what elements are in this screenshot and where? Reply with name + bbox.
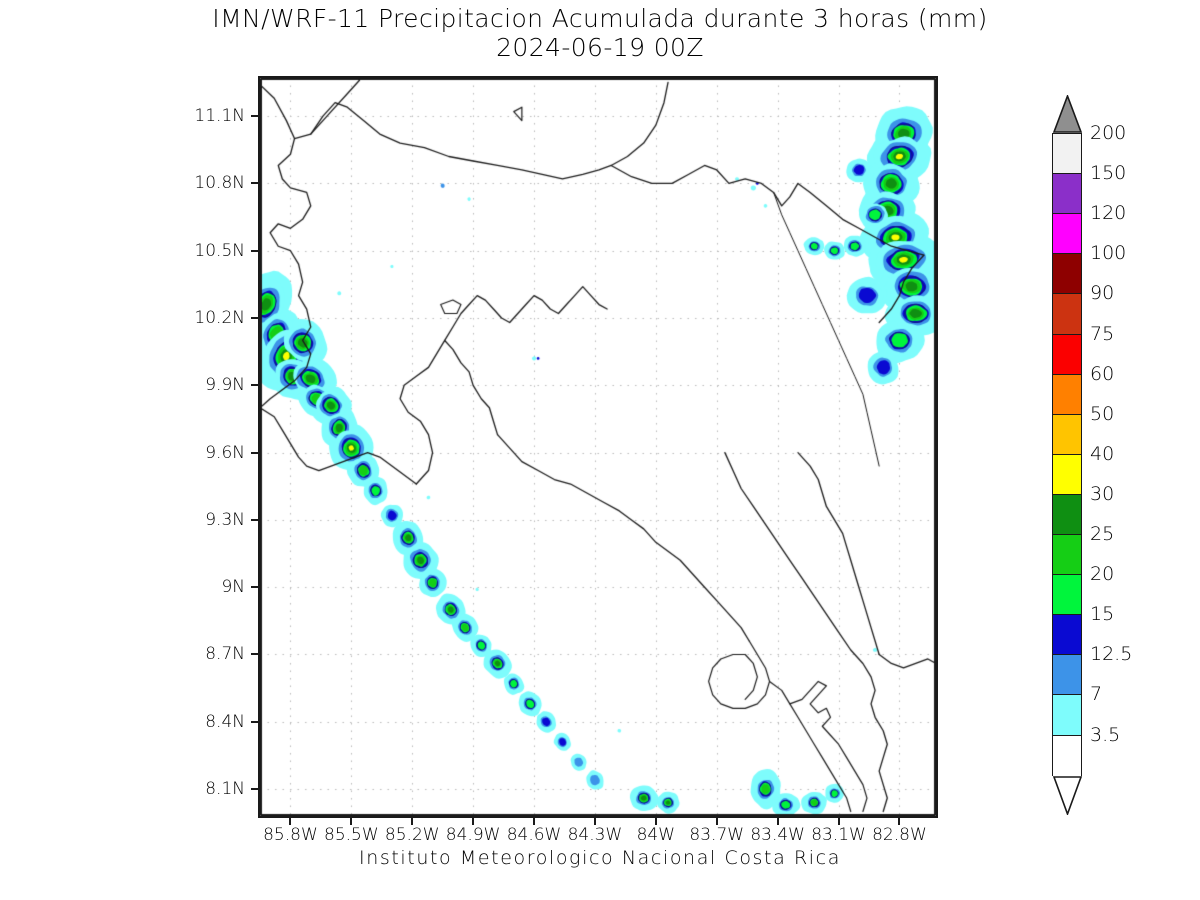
y-axis-tick-mark xyxy=(251,653,259,655)
y-axis-tick-mark xyxy=(251,452,259,454)
y-axis-tick-mark xyxy=(251,721,259,723)
x-axis-tick-mark xyxy=(838,817,840,825)
y-axis-tick-label: 10.8N xyxy=(150,173,245,193)
colorbar: 20015012010090756050403025201512.573.5 xyxy=(1052,95,1084,807)
colorbar-swatch xyxy=(1052,494,1082,536)
colorbar-swatch xyxy=(1052,293,1082,335)
y-axis-tick-label: 8.1N xyxy=(150,779,245,799)
colorbar-swatch xyxy=(1052,374,1082,416)
y-axis-tick-mark xyxy=(251,384,259,386)
page-title: IMN/WRF-11 Precipitacion Acumulada duran… xyxy=(0,4,1200,33)
colorbar-tick-label: 15 xyxy=(1090,605,1114,624)
colorbar-swatch xyxy=(1052,133,1082,175)
y-axis-tick-label: 9.3N xyxy=(150,510,245,530)
y-axis-tick-label: 9N xyxy=(150,577,245,597)
y-axis-tick-label: 9.9N xyxy=(150,375,245,395)
colorbar-swatch xyxy=(1052,253,1082,295)
y-axis-tick-label: 8.4N xyxy=(150,712,245,732)
y-axis-tick-mark xyxy=(251,182,259,184)
footer-attribution: Instituto Meteorologico Nacional Costa R… xyxy=(0,847,1200,869)
colorbar-tick-label: 75 xyxy=(1090,325,1114,344)
precipitation-map-canvas xyxy=(260,78,936,816)
map-plot-area xyxy=(258,76,938,818)
colorbar-swatch xyxy=(1052,213,1082,255)
colorbar-swatch xyxy=(1052,614,1082,656)
colorbar-top-arrow-icon xyxy=(1052,95,1084,133)
x-axis-tick-mark xyxy=(716,817,718,825)
colorbar-tick-label: 90 xyxy=(1090,284,1114,303)
x-axis-tick-mark xyxy=(289,817,291,825)
colorbar-swatch xyxy=(1052,735,1082,777)
chart-title-block: IMN/WRF-11 Precipitacion Acumulada duran… xyxy=(0,4,1200,62)
colorbar-tick-label: 200 xyxy=(1090,124,1126,143)
x-axis-tick-mark xyxy=(472,817,474,825)
y-axis-tick-mark xyxy=(251,250,259,252)
colorbar-swatch xyxy=(1052,414,1082,456)
y-axis-tick-label: 11.1N xyxy=(150,106,245,126)
colorbar-swatch xyxy=(1052,694,1082,736)
colorbar-bottom-arrow-icon xyxy=(1052,775,1084,815)
x-axis-tick-mark xyxy=(350,817,352,825)
colorbar-tick-label: 3.5 xyxy=(1090,726,1120,745)
colorbar-tick-label: 100 xyxy=(1090,244,1126,263)
colorbar-tick-label: 60 xyxy=(1090,365,1114,384)
colorbar-swatch xyxy=(1052,334,1082,376)
colorbar-swatch xyxy=(1052,173,1082,215)
chart-subtitle: 2024-06-19 00Z xyxy=(0,33,1200,62)
x-axis-tick-mark xyxy=(777,817,779,825)
colorbar-tick-label: 50 xyxy=(1090,405,1114,424)
x-axis-tick-mark xyxy=(655,817,657,825)
y-axis-tick-mark xyxy=(251,788,259,790)
colorbar-tick-label: 7 xyxy=(1090,685,1102,704)
colorbar-tick-label: 25 xyxy=(1090,525,1114,544)
colorbar-tick-label: 20 xyxy=(1090,565,1114,584)
x-axis-tick-label: 82.8W xyxy=(854,825,944,845)
y-axis-tick-mark xyxy=(251,317,259,319)
colorbar-swatch xyxy=(1052,534,1082,576)
x-axis-tick-mark xyxy=(594,817,596,825)
y-axis-tick-label: 10.2N xyxy=(150,308,245,328)
colorbar-swatch xyxy=(1052,574,1082,616)
colorbar-tick-label: 150 xyxy=(1090,164,1126,183)
y-axis-tick-mark xyxy=(251,115,259,117)
colorbar-tick-label: 30 xyxy=(1090,485,1114,504)
y-axis-tick-label: 8.7N xyxy=(150,644,245,664)
colorbar-tick-label: 40 xyxy=(1090,445,1114,464)
colorbar-tick-label: 120 xyxy=(1090,204,1126,223)
y-axis-tick-label: 10.5N xyxy=(150,241,245,261)
y-axis-tick-label: 9.6N xyxy=(150,443,245,463)
colorbar-swatch xyxy=(1052,454,1082,496)
x-axis-tick-mark xyxy=(411,817,413,825)
x-axis-tick-mark xyxy=(898,817,900,825)
x-axis-tick-mark xyxy=(533,817,535,825)
colorbar-swatch xyxy=(1052,654,1082,696)
y-axis-tick-mark xyxy=(251,586,259,588)
colorbar-tick-label: 12.5 xyxy=(1090,645,1132,664)
y-axis-tick-mark xyxy=(251,519,259,521)
